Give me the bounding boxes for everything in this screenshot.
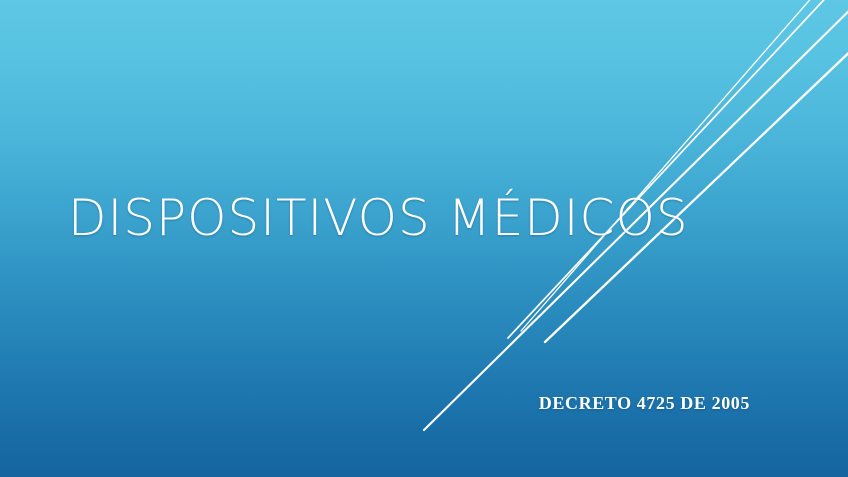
diagonal-line-3	[521, 0, 848, 331]
subtitle-placeholder: DECRETO 4725 DE 2005	[430, 393, 750, 414]
slide-title: DISPOSITIVOS MÉDICOS	[68, 192, 588, 244]
slide-subtitle: DECRETO 4725 DE 2005	[430, 393, 750, 414]
title-placeholder: DISPOSITIVOS MÉDICOS	[68, 192, 588, 244]
presentation-title-slide: DISPOSITIVOS MÉDICOS DECRETO 4725 DE 200…	[0, 0, 848, 477]
diagonal-line-2	[508, 0, 848, 338]
